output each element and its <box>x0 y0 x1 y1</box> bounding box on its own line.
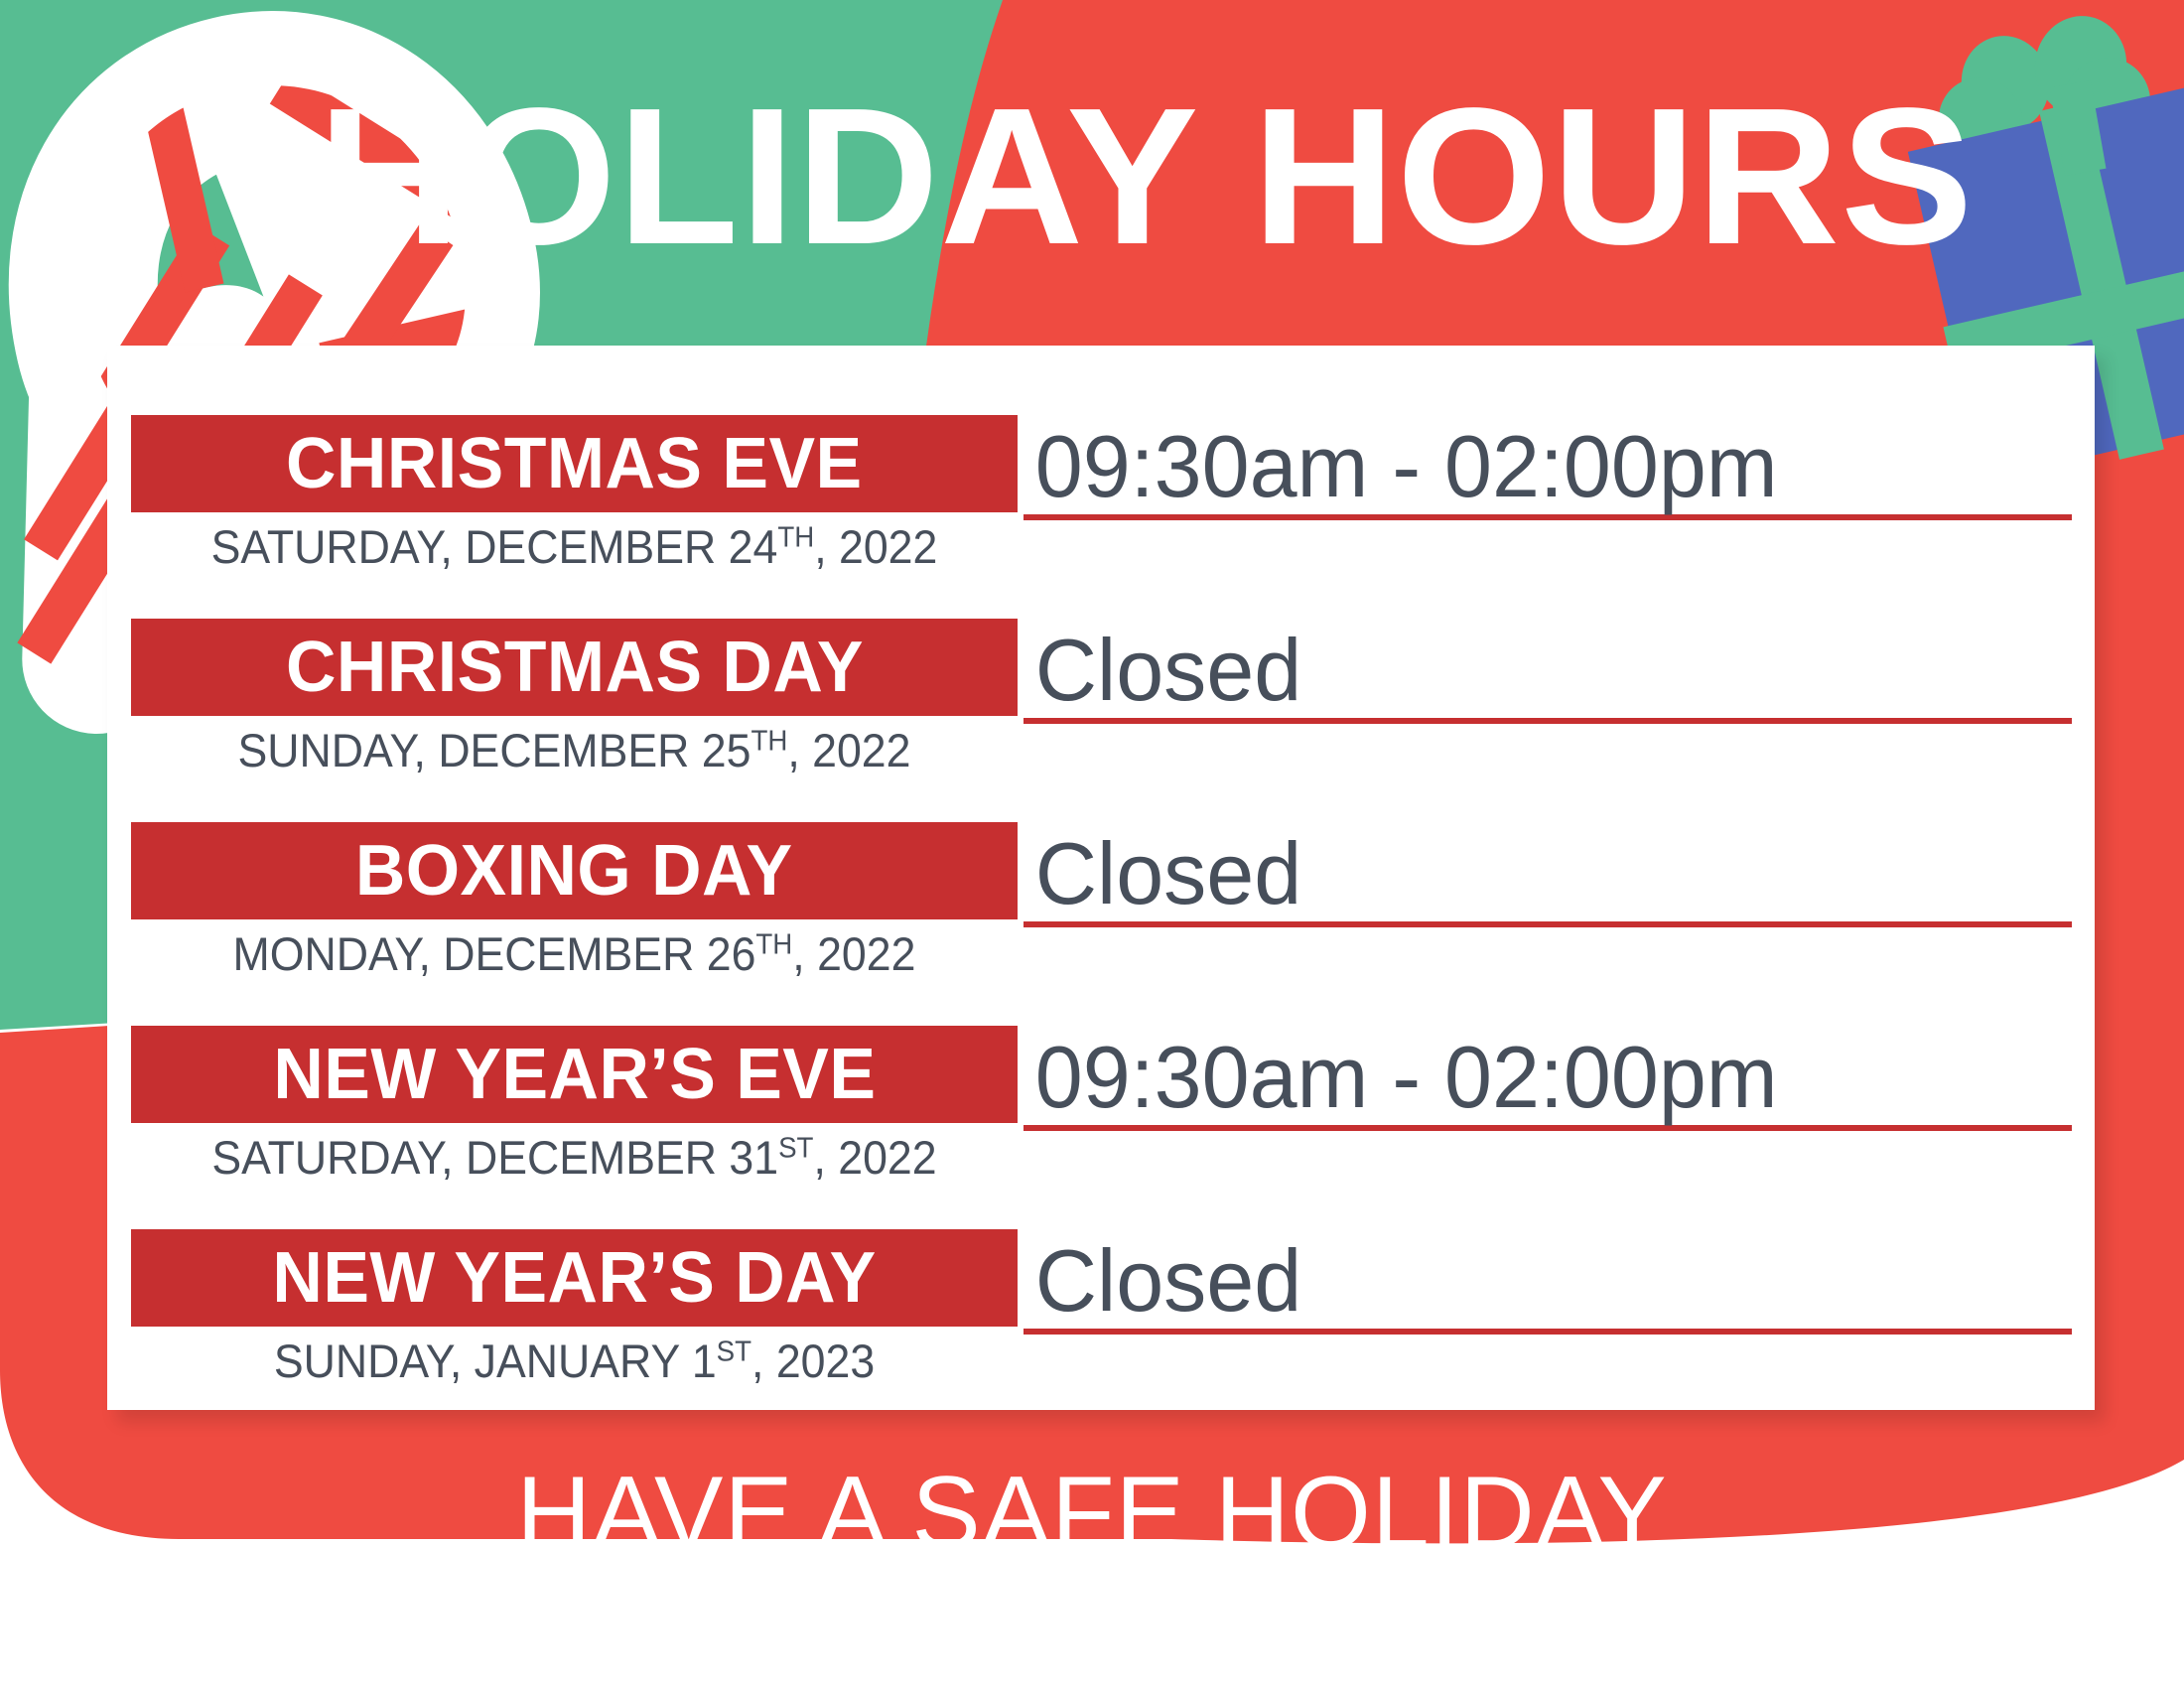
holiday-name-chip: NEW YEAR’S DAY <box>131 1229 1018 1327</box>
holiday-date-weekday: SUNDAY, JANUARY 1 <box>274 1335 717 1387</box>
holiday-name: CHRISTMAS DAY <box>286 632 864 703</box>
page-title: HOLIDAY HOURS <box>318 77 1979 276</box>
table-row: NEW YEAR’S DAY SUNDAY, JANUARY 1ST, 2023… <box>107 1160 2095 1370</box>
table-row: CHRISTMAS DAY SUNDAY, DECEMBER 25TH, 202… <box>107 549 2095 753</box>
holiday-name: BOXING DAY <box>355 835 793 907</box>
holiday-name: CHRISTMAS EVE <box>286 428 863 499</box>
table-row: CHRISTMAS EVE SATURDAY, DECEMBER 24TH, 2… <box>107 346 2095 549</box>
holiday-hours: 09:30am - 02:00pm <box>1024 419 1778 514</box>
holiday-name-chip: NEW YEAR’S EVE <box>131 1026 1018 1123</box>
holiday-hours-poster: HOLIDAY HOURS CHRISTMAS EVE SATURDAY, DE… <box>0 0 2184 1688</box>
holiday-date-year: , 2023 <box>751 1335 875 1387</box>
holiday-name: NEW YEAR’S EVE <box>273 1039 876 1110</box>
schedule-table: CHRISTMAS EVE SATURDAY, DECEMBER 24TH, 2… <box>107 346 2095 1370</box>
table-row: NEW YEAR’S EVE SATURDAY, DECEMBER 31ST, … <box>107 956 2095 1160</box>
holiday-name-chip: BOXING DAY <box>131 822 1018 919</box>
holiday-hours-cell: Closed <box>1024 1199 2072 1335</box>
holiday-name-chip: CHRISTMAS DAY <box>131 619 1018 716</box>
footer-message: HAVE A SAFE HOLIDAY <box>0 1458 2184 1569</box>
table-row: BOXING DAY MONDAY, DECEMBER 26TH, 2022 C… <box>107 753 2095 956</box>
holiday-hours-cell: Closed <box>1024 589 2072 724</box>
holiday-hours: Closed <box>1024 623 1301 718</box>
hours-card: CHRISTMAS EVE SATURDAY, DECEMBER 24TH, 2… <box>107 346 2095 1410</box>
holiday-hours: Closed <box>1024 1233 1301 1329</box>
holiday-name: NEW YEAR’S DAY <box>272 1242 876 1314</box>
holiday-date-ordinal: ST <box>717 1336 751 1367</box>
holiday-hours: Closed <box>1024 826 1301 921</box>
holiday-hours-cell: 09:30am - 02:00pm <box>1024 996 2072 1131</box>
holiday-hours: 09:30am - 02:00pm <box>1024 1030 1778 1125</box>
holiday-name-chip: CHRISTMAS EVE <box>131 415 1018 512</box>
holiday-hours-cell: Closed <box>1024 792 2072 927</box>
holiday-date: SUNDAY, JANUARY 1ST, 2023 <box>153 1335 995 1388</box>
holiday-hours-cell: 09:30am - 02:00pm <box>1024 385 2072 520</box>
